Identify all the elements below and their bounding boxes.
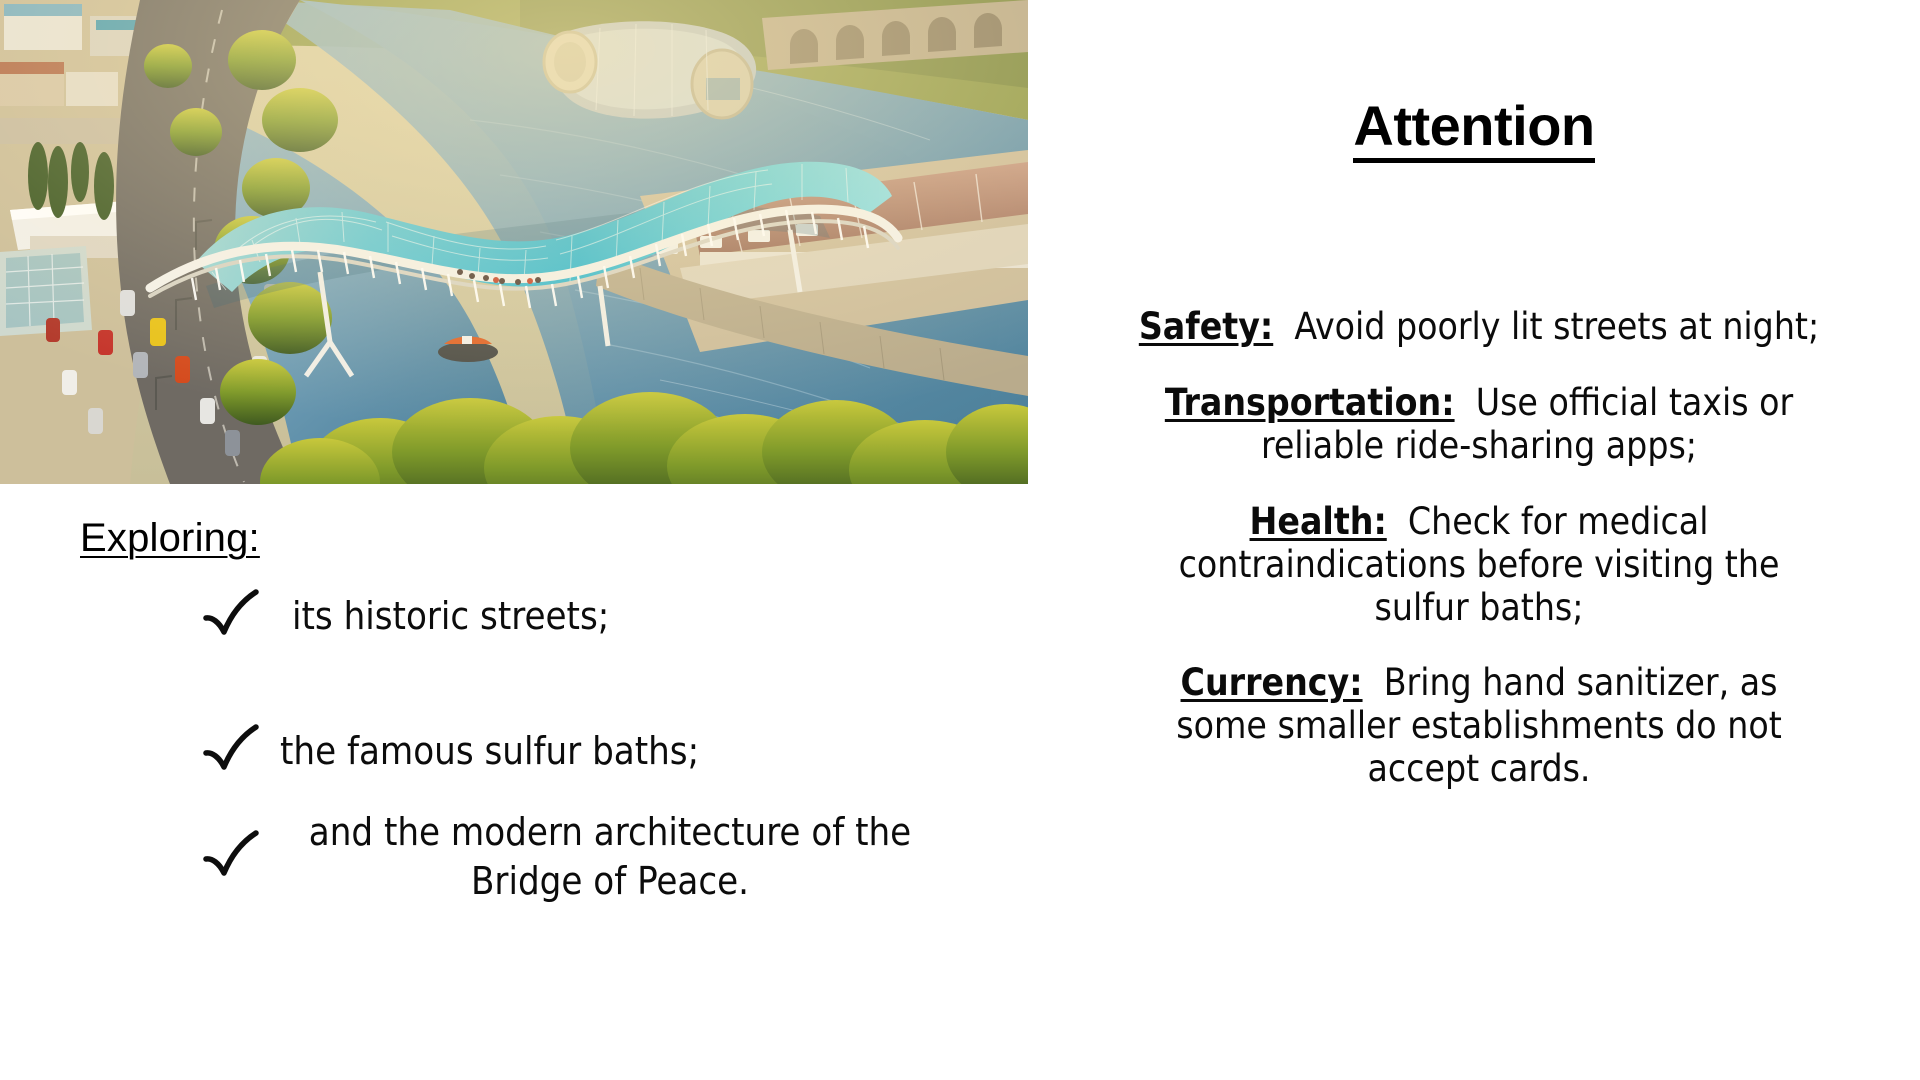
right-column: Attention Safety: Avoid poorly lit stree…	[1028, 0, 1920, 1080]
list-item-label: the famous sulfur baths;	[270, 727, 699, 776]
check-icon	[200, 723, 262, 779]
list-item: the famous sulfur baths;	[200, 721, 1000, 781]
tip-label: Safety:	[1139, 305, 1273, 348]
check-icon	[200, 588, 262, 644]
tip-label: Transportation:	[1165, 381, 1455, 424]
check-icon	[200, 829, 262, 885]
list-item: and the modern architecture of the Bridg…	[200, 808, 1000, 905]
list-item-label: and the modern architecture of the Bridg…	[270, 808, 950, 905]
tip-label: Currency:	[1181, 661, 1363, 704]
tip-safety: Safety: Avoid poorly lit streets at nigh…	[1134, 306, 1824, 349]
exploring-bullet-list: its historic streets; the famous sulfur …	[200, 586, 1000, 905]
tip-transportation: Transportation: Use official taxis or re…	[1134, 382, 1824, 468]
left-column: Exploring: its historic streets; the fam…	[0, 0, 1028, 1080]
attention-tips-list: Safety: Avoid poorly lit streets at nigh…	[1134, 306, 1824, 791]
page-title-text: Attention	[1353, 97, 1594, 163]
tip-health: Health: Check for medical contraindicati…	[1134, 501, 1824, 630]
slide-root: Exploring: its historic streets; the fam…	[0, 0, 1920, 1080]
exploring-heading: Exploring:	[80, 516, 260, 560]
city-aerial-photo-icon	[0, 0, 1028, 484]
page-title: Attention	[1028, 97, 1920, 163]
list-item-label: its historic streets;	[270, 592, 609, 641]
tip-body: Avoid poorly lit streets at night;	[1294, 305, 1819, 348]
tip-currency: Currency: Bring hand sanitizer, as some …	[1134, 662, 1824, 791]
tip-label: Health:	[1250, 500, 1387, 543]
tbilisi-aerial-photo	[0, 0, 1028, 484]
list-item: its historic streets;	[200, 586, 1000, 646]
